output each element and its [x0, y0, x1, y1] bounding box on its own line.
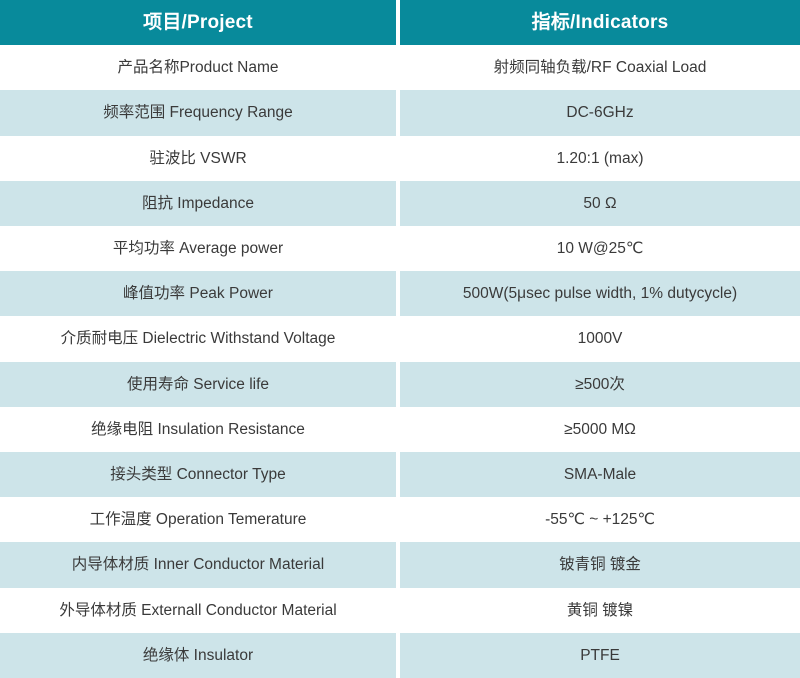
cell-indicator: DC-6GHz — [400, 90, 800, 135]
table-row: 产品名称Product Name 射频同轴负载/RF Coaxial Load — [0, 45, 800, 90]
cell-project: 阻抗 Impedance — [0, 181, 396, 226]
cell-project: 内导体材质 Inner Conductor Material — [0, 542, 396, 587]
cell-indicator: 铍青铜 镀金 — [400, 542, 800, 587]
cell-indicator: SMA-Male — [400, 452, 800, 497]
cell-indicator: -55℃ ~ +125℃ — [400, 497, 800, 542]
cell-indicator: 10 W@25℃ — [400, 226, 800, 271]
cell-indicator: 黄铜 镀镍 — [400, 588, 800, 633]
table-row: 阻抗 Impedance 50 Ω — [0, 181, 800, 226]
table-row: 接头类型 Connector Type SMA-Male — [0, 452, 800, 497]
cell-project: 平均功率 Average power — [0, 226, 396, 271]
cell-project: 产品名称Product Name — [0, 45, 396, 90]
table-row: 工作温度 Operation Temerature -55℃ ~ +125℃ — [0, 497, 800, 542]
table-row: 峰值功率 Peak Power 500W(5μsec pulse width, … — [0, 271, 800, 316]
cell-project: 绝缘体 Insulator — [0, 633, 396, 678]
cell-indicator: ≥5000 MΩ — [400, 407, 800, 452]
cell-project: 峰值功率 Peak Power — [0, 271, 396, 316]
table-row: 内导体材质 Inner Conductor Material 铍青铜 镀金 — [0, 542, 800, 587]
cell-project: 工作温度 Operation Temerature — [0, 497, 396, 542]
table-row: 平均功率 Average power 10 W@25℃ — [0, 226, 800, 271]
cell-indicator: PTFE — [400, 633, 800, 678]
cell-project: 接头类型 Connector Type — [0, 452, 396, 497]
cell-project: 使用寿命 Service life — [0, 362, 396, 407]
cell-project: 绝缘电阻 Insulation Resistance — [0, 407, 396, 452]
table-row: 驻波比 VSWR 1.20:1 (max) — [0, 136, 800, 181]
cell-indicator: 50 Ω — [400, 181, 800, 226]
table-header-row: 项目/Project 指标/Indicators — [0, 0, 800, 45]
column-header-indicators: 指标/Indicators — [400, 0, 800, 45]
cell-indicator: 1.20:1 (max) — [400, 136, 800, 181]
table-row: 绝缘体 Insulator PTFE — [0, 633, 800, 678]
column-header-project: 项目/Project — [0, 0, 396, 45]
cell-indicator: 射频同轴负载/RF Coaxial Load — [400, 45, 800, 90]
specification-table: 项目/Project 指标/Indicators 产品名称Product Nam… — [0, 0, 800, 678]
cell-project: 介质耐电压 Dielectric Withstand Voltage — [0, 316, 396, 361]
table-row: 绝缘电阻 Insulation Resistance ≥5000 MΩ — [0, 407, 800, 452]
cell-project: 频率范围 Frequency Range — [0, 90, 396, 135]
table-row: 外导体材质 Externall Conductor Material 黄铜 镀镍 — [0, 588, 800, 633]
table-row: 使用寿命 Service life ≥500次 — [0, 362, 800, 407]
cell-indicator: ≥500次 — [400, 362, 800, 407]
cell-indicator: 1000V — [400, 316, 800, 361]
cell-project: 驻波比 VSWR — [0, 136, 396, 181]
table-row: 介质耐电压 Dielectric Withstand Voltage 1000V — [0, 316, 800, 361]
cell-project: 外导体材质 Externall Conductor Material — [0, 588, 396, 633]
cell-indicator: 500W(5μsec pulse width, 1% dutycycle) — [400, 271, 800, 316]
table-row: 频率范围 Frequency Range DC-6GHz — [0, 90, 800, 135]
